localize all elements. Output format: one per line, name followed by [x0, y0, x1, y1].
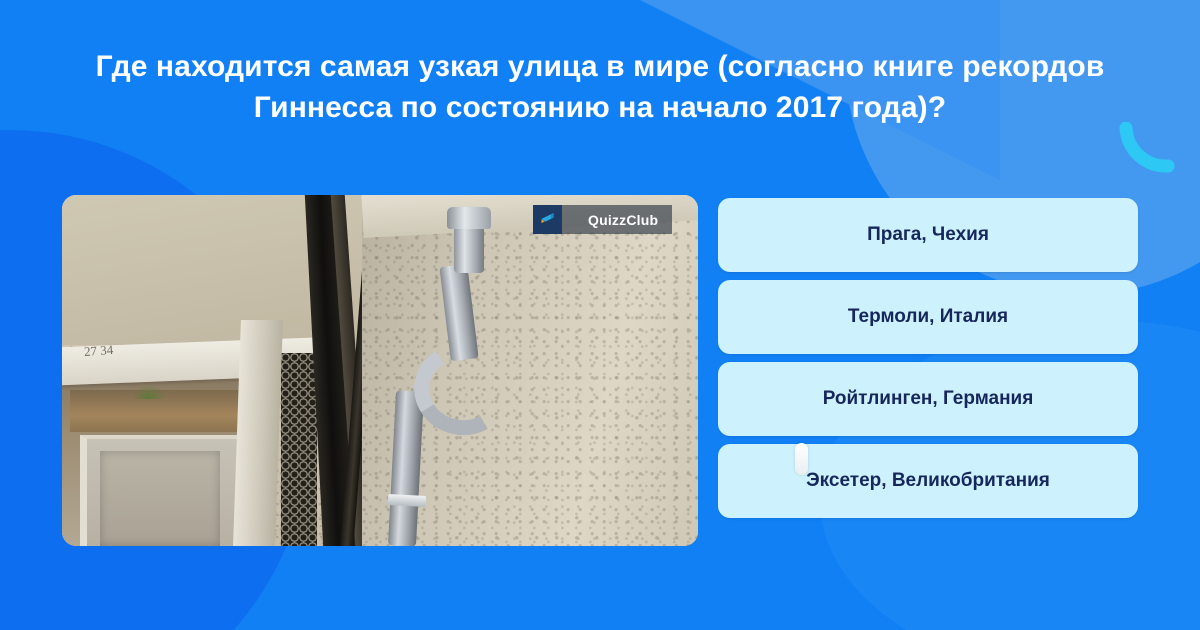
answer-option-label: Ройтлинген, Германия	[823, 388, 1034, 410]
answer-option-1[interactable]: Прага, Чехия	[718, 198, 1138, 272]
answer-option-label: Прага, Чехия	[867, 224, 989, 246]
photo-weeds	[132, 385, 166, 399]
photo-scrawled-number: 27 34	[83, 342, 113, 360]
answer-option-3[interactable]: Ройтлинген, Германия	[718, 362, 1138, 436]
watermark-badge: QuizzClub	[533, 205, 672, 234]
page-title: Где находится самая узкая улица в мире (…	[90, 46, 1110, 129]
answer-option-2[interactable]: Термоли, Италия	[718, 280, 1138, 354]
answer-option-label: Эксетер, Великобритания	[806, 470, 1050, 492]
crescent-arc-icon	[1118, 122, 1176, 180]
quiz-card: Где находится самая узкая улица в мире (…	[0, 0, 1200, 630]
selection-marker-icon	[795, 443, 808, 475]
answer-option-label: Термоли, Италия	[848, 306, 1008, 328]
photo-corner-pillar	[233, 320, 283, 546]
photo-downspout-funnel	[447, 207, 491, 229]
answer-options-list: Прага, Чехия Термоли, Италия Ройтлинген,…	[718, 198, 1138, 518]
photo-door-panel-inner	[100, 451, 220, 546]
watermark-label: QuizzClub	[562, 212, 672, 228]
question-image: 27 34 QuizzClub	[62, 195, 698, 546]
graduation-cap-icon	[533, 205, 562, 234]
photo-chicken-wire-mesh	[281, 353, 317, 546]
photo-downspout-band	[388, 494, 427, 507]
answer-option-4[interactable]: Эксетер, Великобритания	[718, 444, 1138, 518]
